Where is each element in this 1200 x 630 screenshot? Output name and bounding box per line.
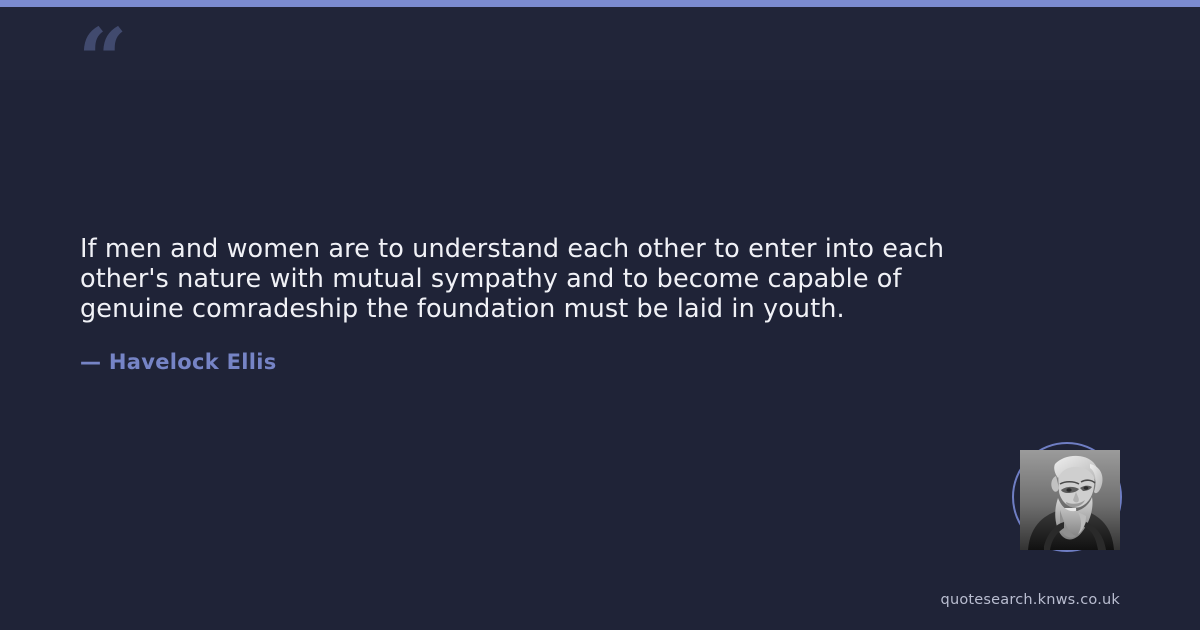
site-url-footer: quotesearch.knws.co.uk [941,590,1120,610]
open-quote-icon: “ [78,18,125,104]
top-accent-bar [0,0,1200,7]
quote-author: — Havelock Ellis [80,348,277,376]
portrait-illustration-icon [1020,450,1120,550]
header-band [0,7,1200,80]
portrait-photo [1020,450,1120,550]
author-portrait [1012,442,1128,558]
quote-text: If men and women are to understand each … [80,234,1000,324]
quote-card: “ If men and women are to understand eac… [0,0,1200,630]
